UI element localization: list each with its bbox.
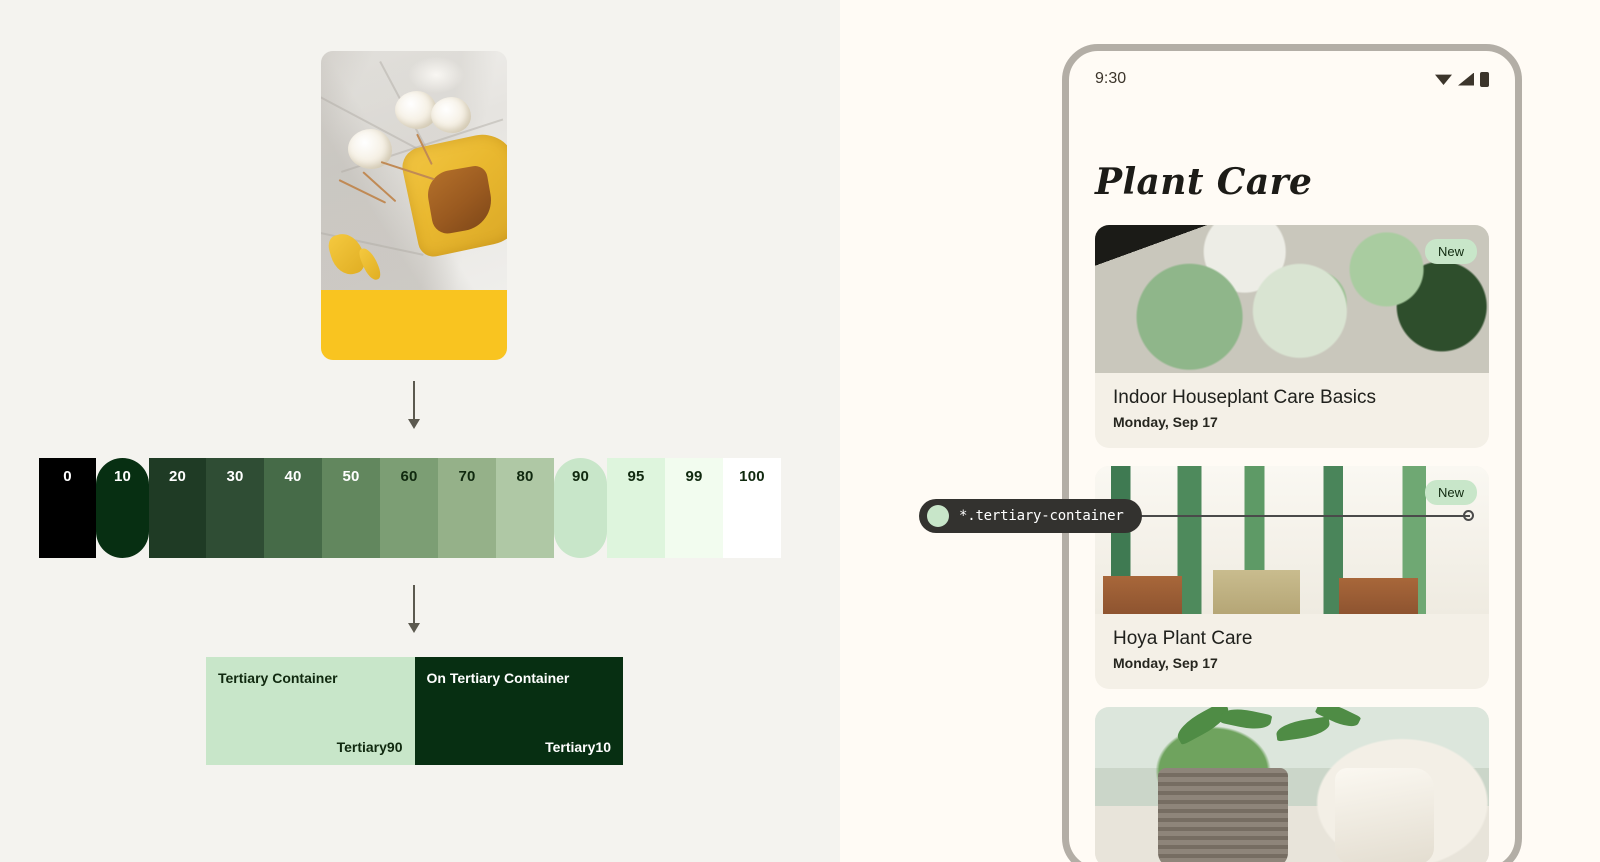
- color-derivation-panel: 01020304050607080909599100 Tertiary Cont…: [0, 0, 840, 862]
- tone-swatch-70[interactable]: 70: [438, 458, 496, 558]
- token-tone-reference: Tertiary90: [218, 739, 403, 755]
- token-name: *.tertiary-container: [959, 508, 1124, 524]
- token-color-swatch-icon: [927, 505, 949, 527]
- color-role-token[interactable]: Tertiary ContainerTertiary90: [206, 657, 415, 765]
- arrow-down-icon-1: [408, 381, 420, 429]
- callout-anchor-dot: [1463, 510, 1474, 521]
- tone-swatch-30[interactable]: 30: [206, 458, 264, 558]
- status-badge: New: [1425, 480, 1477, 505]
- status-bar: 9:30: [1069, 51, 1515, 107]
- tone-swatch-95[interactable]: 95: [607, 458, 665, 558]
- tone-swatch-99[interactable]: 99: [665, 458, 723, 558]
- page-title: Plant Care: [1069, 107, 1515, 225]
- status-time: 9:30: [1095, 70, 1126, 88]
- signal-icon: [1458, 73, 1474, 86]
- phone-mockup: 9:30 Plant Care New Indoor Houseplant: [1062, 44, 1522, 862]
- card-media: [1095, 707, 1489, 862]
- tonal-palette: 01020304050607080909599100: [39, 458, 781, 558]
- tone-label: 90: [572, 468, 589, 558]
- token-role-name: Tertiary Container: [218, 670, 403, 686]
- tone-label: 99: [685, 468, 702, 558]
- tone-label: 70: [458, 468, 475, 558]
- tone-swatch-60[interactable]: 60: [380, 458, 438, 558]
- tone-swatch-0[interactable]: 0: [39, 458, 96, 558]
- tone-label: 100: [739, 468, 765, 558]
- tone-label: 0: [63, 468, 72, 558]
- tone-label: 60: [400, 468, 417, 558]
- arrow-down-icon-2: [408, 585, 420, 633]
- list-item[interactable]: New Hoya Plant Care Monday, Sep 17: [1095, 466, 1489, 689]
- card-date: Monday, Sep 17: [1113, 655, 1471, 671]
- tone-swatch-50[interactable]: 50: [322, 458, 380, 558]
- source-photo: [321, 51, 507, 290]
- list-item[interactable]: [1095, 707, 1489, 862]
- card-title: Hoya Plant Care: [1113, 628, 1471, 650]
- source-image-card: [321, 51, 507, 360]
- tone-swatch-100[interactable]: 100: [723, 458, 781, 558]
- list-item[interactable]: New Indoor Houseplant Care Basics Monday…: [1095, 225, 1489, 448]
- wifi-icon: [1435, 73, 1452, 85]
- app-stage: 01020304050607080909599100 Tertiary Cont…: [0, 0, 1600, 862]
- tone-label: 50: [342, 468, 359, 558]
- tone-label: 30: [226, 468, 243, 558]
- card-date: Monday, Sep 17: [1113, 414, 1471, 430]
- card-body: Hoya Plant Care Monday, Sep 17: [1095, 614, 1489, 689]
- tone-label: 10: [114, 468, 131, 558]
- tone-swatch-20[interactable]: 20: [149, 458, 206, 558]
- app-preview-panel: 9:30 Plant Care New Indoor Houseplant: [840, 0, 1600, 862]
- card-list: New Indoor Houseplant Care Basics Monday…: [1069, 225, 1515, 862]
- tone-swatch-90[interactable]: 90: [554, 458, 607, 558]
- token-tone-reference: Tertiary10: [427, 739, 612, 755]
- tone-label: 95: [627, 468, 644, 558]
- color-role-token[interactable]: On Tertiary ContainerTertiary10: [415, 657, 624, 765]
- token-tooltip: *.tertiary-container: [919, 499, 1142, 533]
- tone-label: 80: [516, 468, 533, 558]
- card-media: New: [1095, 466, 1489, 614]
- extracted-color-band: [321, 290, 507, 360]
- card-media: New: [1095, 225, 1489, 373]
- token-role-name: On Tertiary Container: [427, 670, 612, 686]
- status-icon-group: [1435, 72, 1489, 87]
- card-title: Indoor Houseplant Care Basics: [1113, 387, 1471, 409]
- battery-icon: [1480, 72, 1489, 87]
- color-role-tokens: Tertiary ContainerTertiary90On Tertiary …: [206, 657, 623, 765]
- tone-swatch-40[interactable]: 40: [264, 458, 322, 558]
- status-badge: New: [1425, 239, 1477, 264]
- tone-label: 20: [169, 468, 186, 558]
- tone-label: 40: [284, 468, 301, 558]
- tone-swatch-80[interactable]: 80: [496, 458, 554, 558]
- card-body: Indoor Houseplant Care Basics Monday, Se…: [1095, 373, 1489, 448]
- tone-swatch-10[interactable]: 10: [96, 458, 149, 558]
